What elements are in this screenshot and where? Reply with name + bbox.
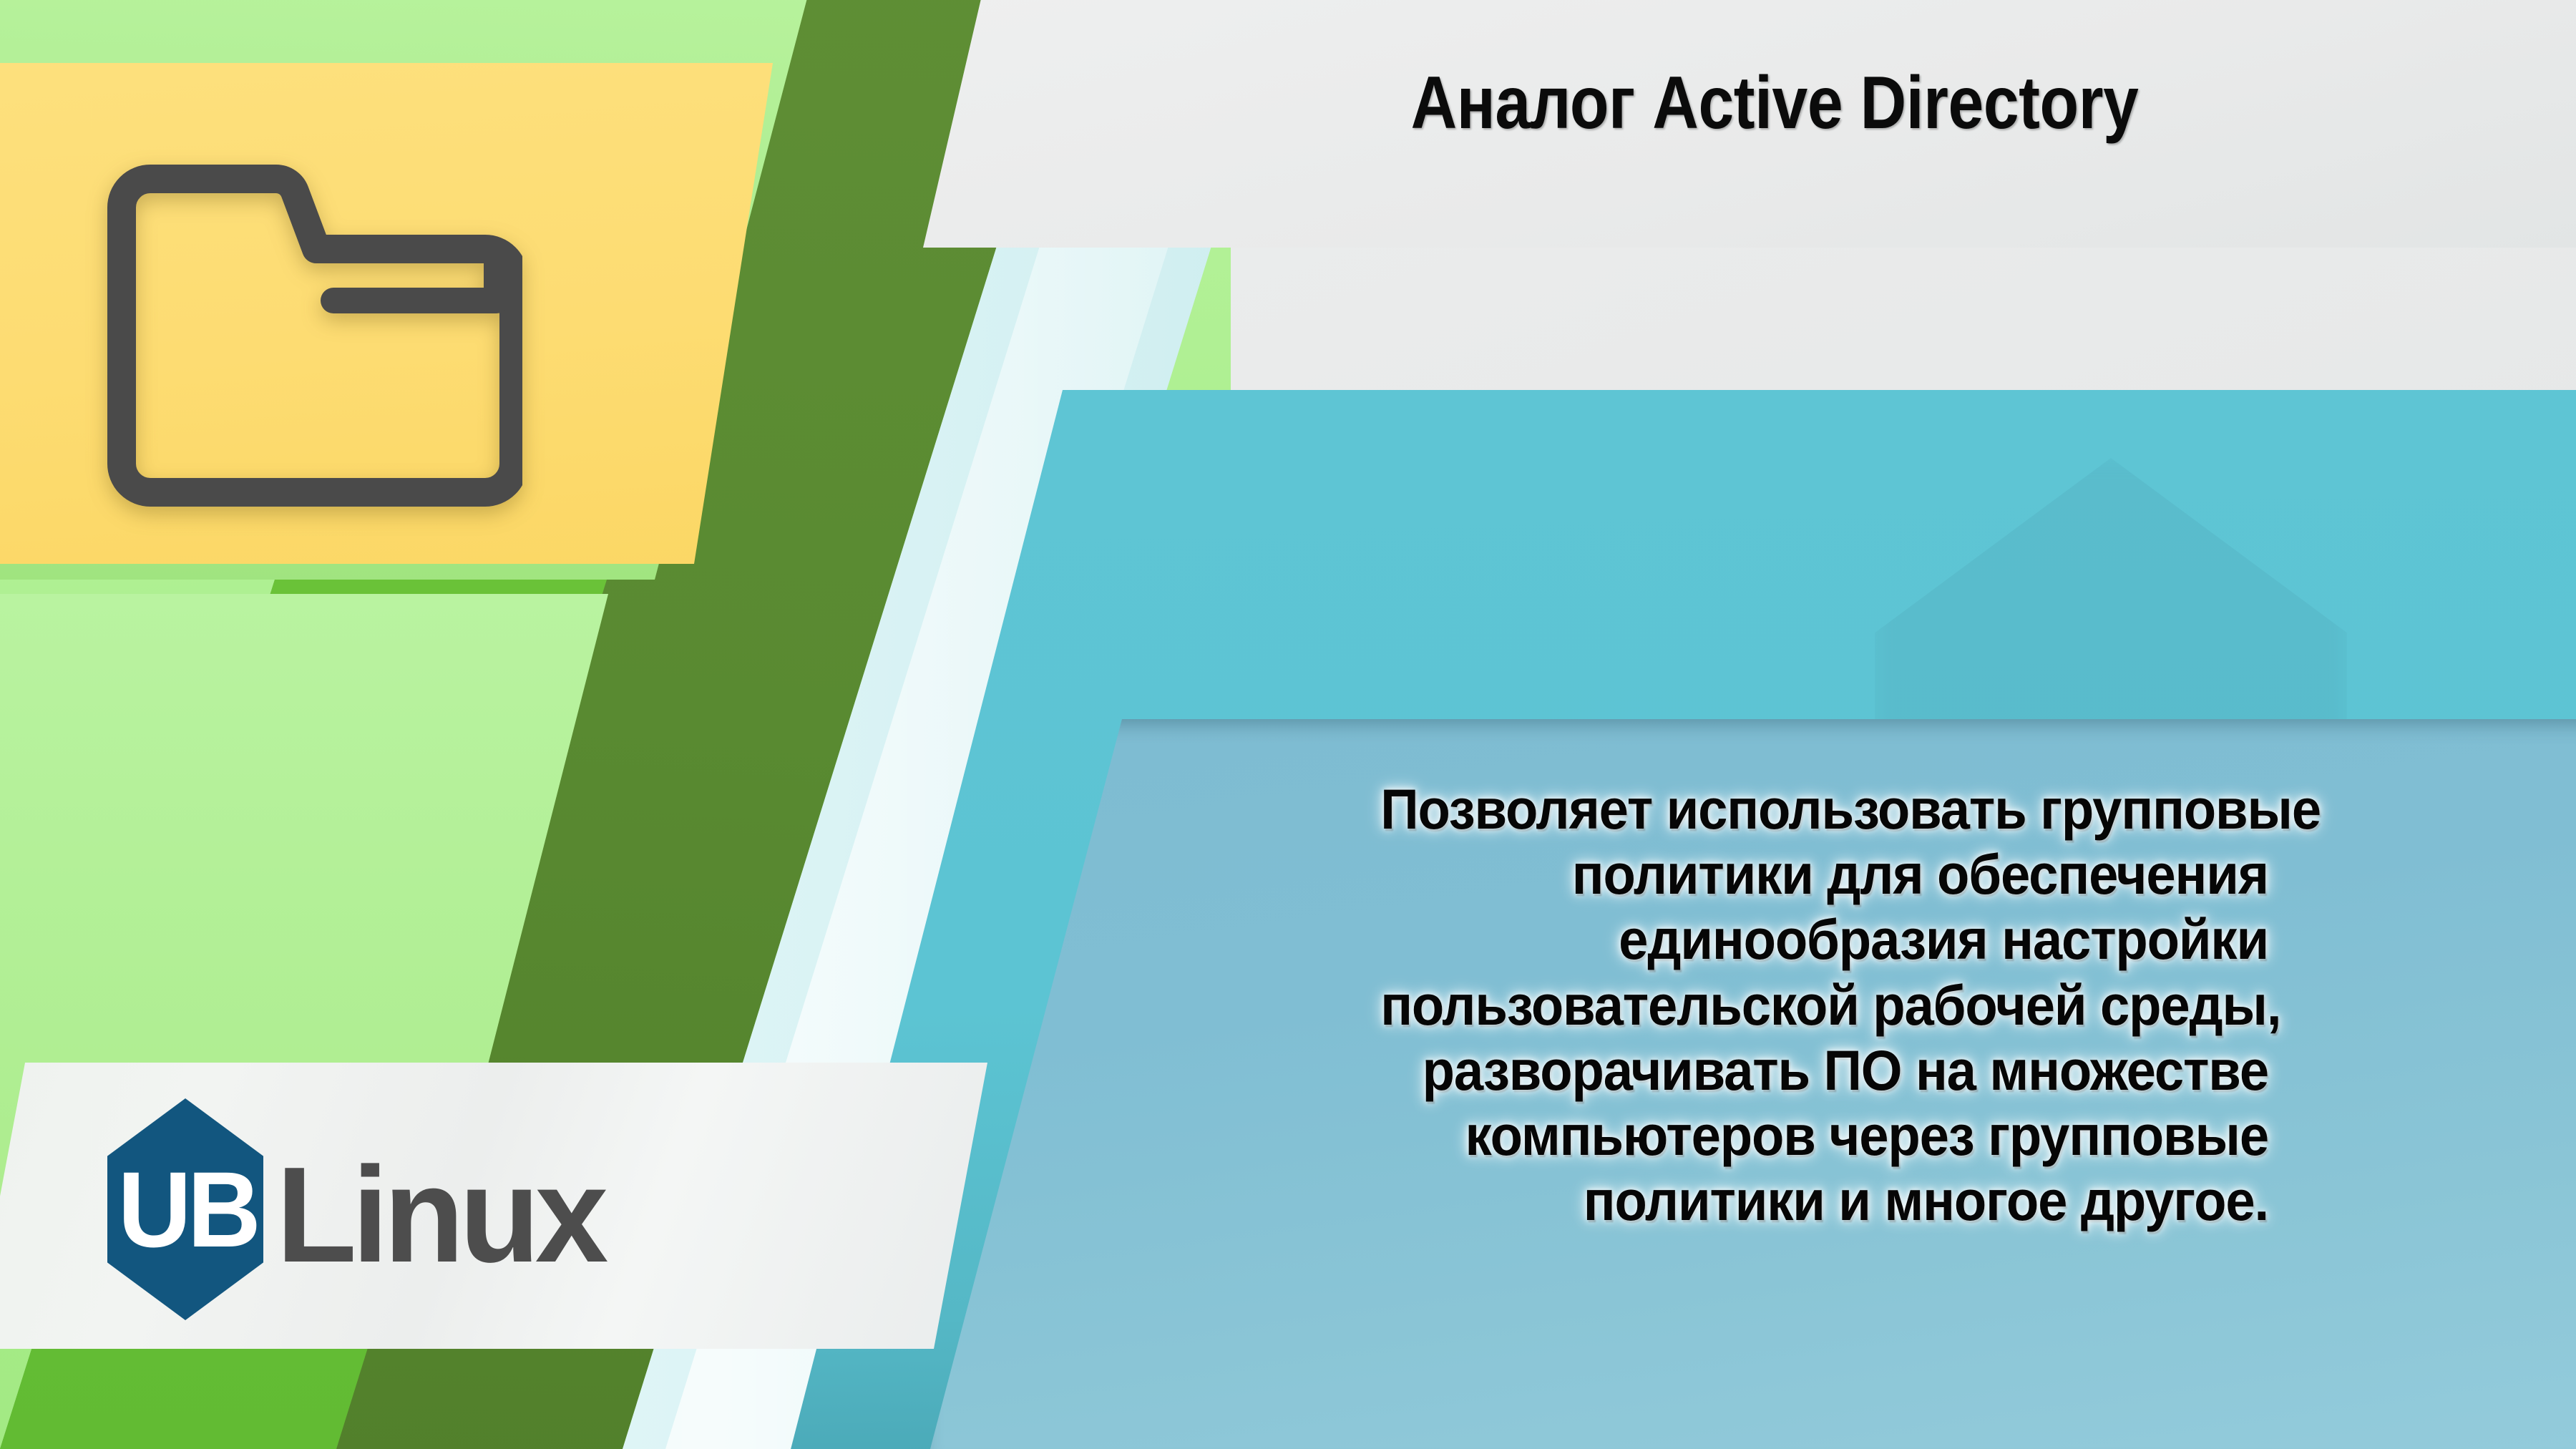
- body-line: разворачивать ПО на множестве: [1380, 1038, 2268, 1103]
- body-line: единообразия настройки: [1380, 907, 2268, 972]
- slide-canvas: UB Linux Аналог Active Directory Позволя…: [0, 0, 2576, 1449]
- body-line: политики и многое другое.: [1380, 1168, 2268, 1233]
- body-line: Позволяет использовать групповые: [1380, 776, 2268, 841]
- folder-icon: [93, 150, 522, 515]
- slide-body-text: Позволяет использовать групповые политик…: [1380, 776, 2268, 1234]
- hexagon-logo-icon: UB: [107, 1098, 263, 1320]
- slide-title: Аналог Active Directory: [1159, 57, 2390, 150]
- ub-linux-logo: UB Linux: [107, 1095, 787, 1324]
- body-line: политики для обеспечения: [1380, 841, 2268, 907]
- body-line: компьютеров через групповые: [1380, 1103, 2268, 1168]
- logo-mark-text: UB: [111, 1098, 259, 1320]
- logo-wordmark: Linux: [276, 1147, 603, 1283]
- body-line: пользовательской рабочей среды,: [1380, 972, 2268, 1038]
